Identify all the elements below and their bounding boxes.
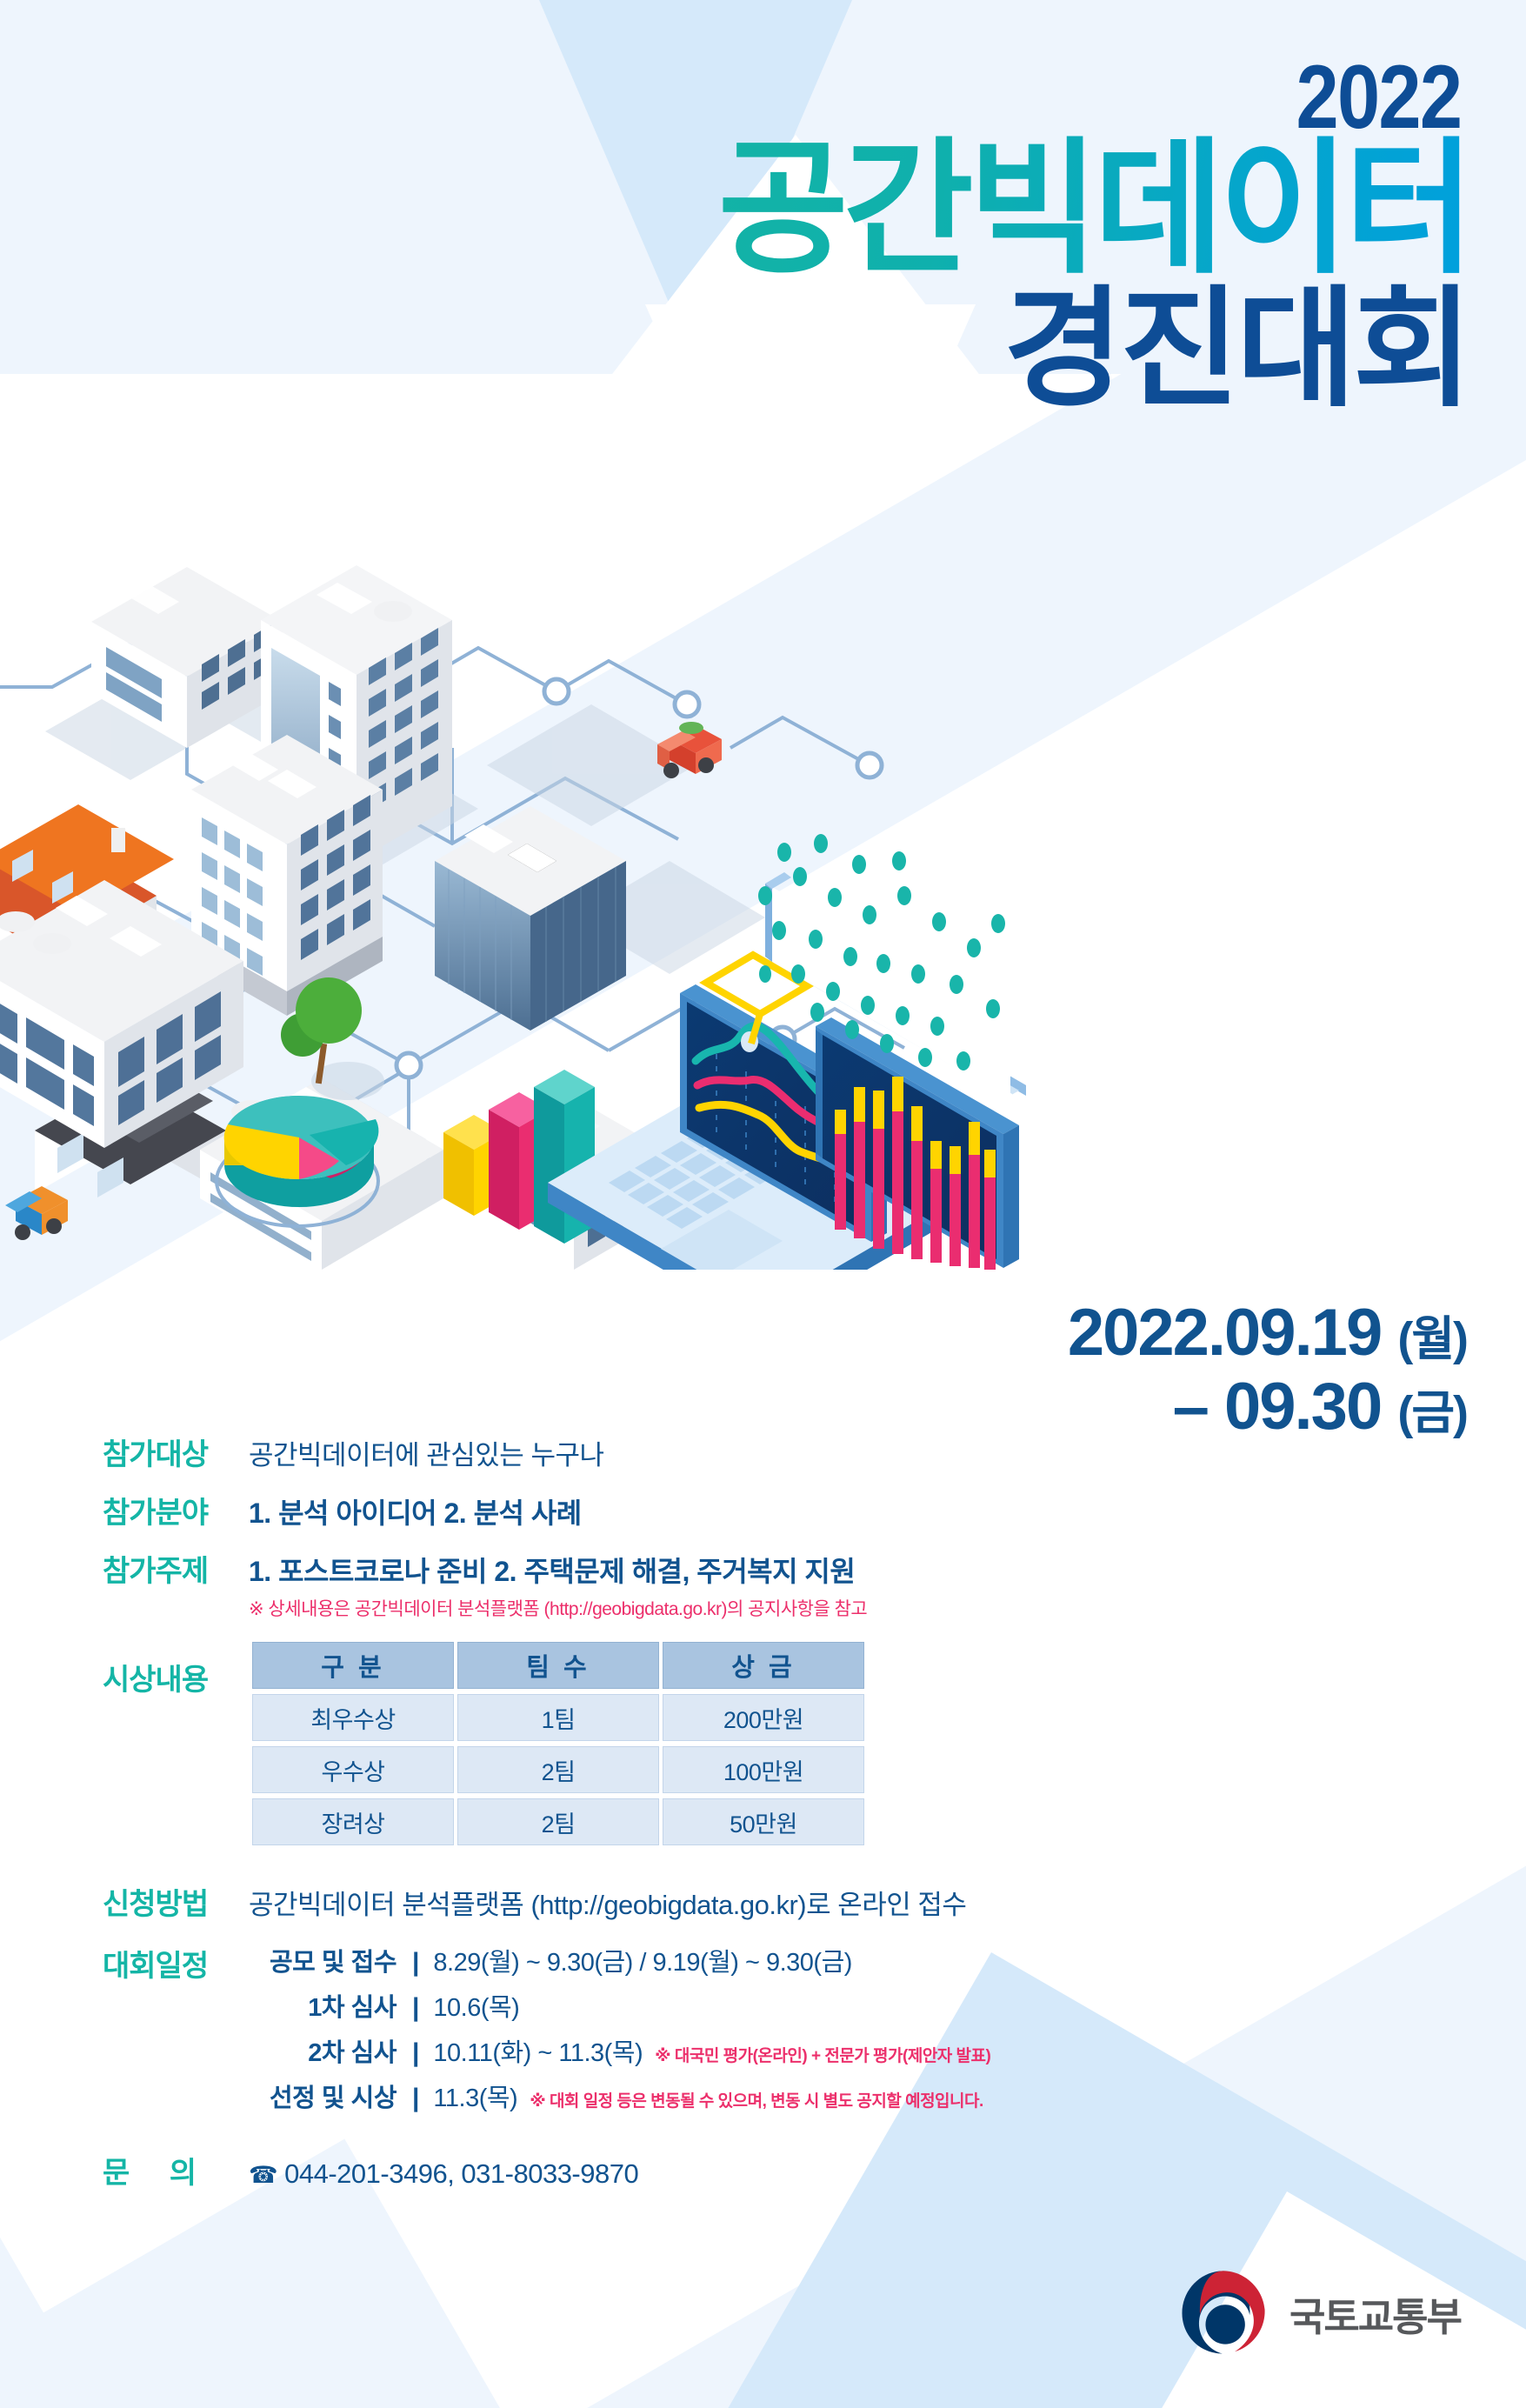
award-teams: 2팀 [457,1746,659,1793]
schedule-item-value: 8.29(월) ~ 9.30(금) / 9.19(월) ~ 9.30(금) [433,1942,852,1978]
label-awards: 시상내용 [103,1637,249,1698]
list-item: 2차 심사 | 10.11(화) ~ 11.3(목) ※ 대국민 평가(온라인)… [249,2032,1459,2069]
event-date-block: 2022.09.19 (월) – 09.30 (금) [1068,1296,1467,1444]
schedule-item-name: 선정 및 시상 [249,2078,412,2114]
awards-header-teams: 팀 수 [457,1642,659,1689]
schedule-item-name: 2차 심사 [249,2032,412,2069]
schedule-list: 공모 및 접수 | 8.29(월) ~ 9.30(금) / 9.19(월) ~ … [249,1942,1459,2123]
table-row: 우수상 2팀 100만원 [252,1746,864,1793]
awards-header-category: 구 분 [252,1642,454,1689]
vehicle-blue-truck [5,1186,68,1240]
schedule-item-value: 10.11(화) ~ 11.3(목) [433,2032,643,2069]
table-row: 장려상 2팀 50만원 [252,1798,864,1845]
event-date-start-line: 2022.09.19 (월) [1068,1296,1467,1370]
information-block: 참가대상 공간빅데이터에 관심있는 누구나 참가분야 1. 분석 아이디어 2.… [103,1431,1459,2191]
list-item: 선정 및 시상 | 11.3(목) ※ 대회 일정 등은 변동될 수 있으며, … [249,2078,1459,2114]
value-participation-topic-group: 1. 포스트코로나 준비 2. 주택문제 해결, 주거복지 지원 ※ 상세내용은… [249,1547,867,1621]
contact-phone-numbers: 044-201-3496, 031-8033-9870 [284,2158,638,2189]
isometric-scene-svg [0,487,1078,1270]
awards-table-head: 구 분 팀 수 상 금 [252,1642,864,1689]
schedule-item-note: ※ 대국민 평가(온라인) + 전문가 평가(제안자 발표) [655,2043,990,2066]
poster-title-sub: 경진대회 [1003,283,1469,416]
award-prize: 200만원 [663,1694,864,1741]
label-how-to-apply: 신청방법 [103,1880,249,1923]
note-participation-topic: ※ 상세내용은 공간빅데이터 분석플랫폼 (http://geobigdata.… [249,1595,867,1621]
isometric-city-illustration [0,487,1078,1270]
awards-table-body: 최우수상 1팀 200만원 우수상 2팀 100만원 장려상 2팀 50만원 [252,1694,864,1845]
value-participation-field: 1. 분석 아이디어 2. 분석 사례 [249,1489,582,1531]
vehicle-red-truck [657,722,722,778]
label-schedule: 대회일정 [103,1942,249,1984]
awards-header-row: 구 분 팀 수 상 금 [252,1642,864,1689]
row-participation-field: 참가분야 1. 분석 아이디어 2. 분석 사례 [103,1489,1459,1531]
schedule-item-name: 공모 및 접수 [249,1942,412,1978]
award-name: 최우수상 [252,1694,454,1741]
event-date-start-day: (월) [1397,1313,1467,1365]
list-item: 1차 심사 | 10.6(목) [249,1987,1459,2024]
row-how-to-apply: 신청방법 공간빅데이터 분석플랫폼 (http://geobigdata.go.… [103,1880,1459,1923]
list-item: 공모 및 접수 | 8.29(월) ~ 9.30(금) / 9.19(월) ~ … [249,1942,1459,1978]
schedule-separator: | [412,1948,433,1978]
awards-header-prize: 상 금 [663,1642,864,1689]
label-contact: 문 의 [103,2149,249,2191]
value-participation-target: 공간빅데이터에 관심있는 누구나 [249,1431,604,1472]
value-contact: ☎044-201-3496, 031-8033-9870 [249,2158,638,2190]
schedule-separator: | [412,2038,433,2068]
awards-table: 구 분 팀 수 상 금 최우수상 1팀 200만원 우수상 2팀 100만원 [249,1637,868,1851]
row-participation-target: 참가대상 공간빅데이터에 관심있는 누구나 [103,1431,1459,1473]
schedule-item-note: ※ 대회 일정 등은 변동될 수 있으며, 변동 시 별도 공지할 예정입니다. [530,2088,983,2111]
event-date-start: 2022.09.19 [1068,1296,1381,1370]
korea-government-taegeuk-logo [1176,2266,1270,2360]
building-glass-cube [435,806,626,1031]
value-participation-topic: 1. 포스트코로나 준비 2. 주택문제 해결, 주거복지 지원 [249,1547,867,1590]
value-how-to-apply: 공간빅데이터 분석플랫폼 (http://geobigdata.go.kr)로 … [249,1880,966,1922]
row-participation-topic: 참가주제 1. 포스트코로나 준비 2. 주택문제 해결, 주거복지 지원 ※ … [103,1547,1459,1621]
label-participation-field: 참가분야 [103,1489,249,1531]
label-participation-topic: 참가주제 [103,1547,249,1590]
telephone-icon: ☎ [249,2162,277,2188]
award-prize: 50만원 [663,1798,864,1845]
schedule-item-value: 11.3(목) [433,2078,517,2114]
award-name: 우수상 [252,1746,454,1793]
row-schedule: 대회일정 공모 및 접수 | 8.29(월) ~ 9.30(금) / 9.19(… [103,1942,1459,2123]
award-name: 장려상 [252,1798,454,1845]
ministry-logo-block: 국토교통부 [1176,2266,1461,2360]
row-awards: 시상내용 구 분 팀 수 상 금 최우수상 1팀 200만원 [103,1637,1459,1851]
schedule-separator: | [412,1993,433,2023]
schedule-item-value: 10.6(목) [433,1987,519,2024]
award-prize: 100만원 [663,1746,864,1793]
poster-title-main: 공간빅데이터 [717,135,1469,283]
table-row: 최우수상 1팀 200만원 [252,1694,864,1741]
ministry-name: 국토교통부 [1289,2285,1461,2342]
3d-bar-chart [443,1070,595,1244]
row-contact: 문 의 ☎044-201-3496, 031-8033-9870 [103,2149,1459,2191]
poster-root: 2022 공간빅데이터 경진대회 2022.09.19 (월) – 09.30 … [0,0,1526,2408]
schedule-item-name: 1차 심사 [249,1987,412,2024]
schedule-separator: | [412,2084,433,2113]
award-teams: 1팀 [457,1694,659,1741]
award-teams: 2팀 [457,1798,659,1845]
label-participation-target: 참가대상 [103,1431,249,1473]
